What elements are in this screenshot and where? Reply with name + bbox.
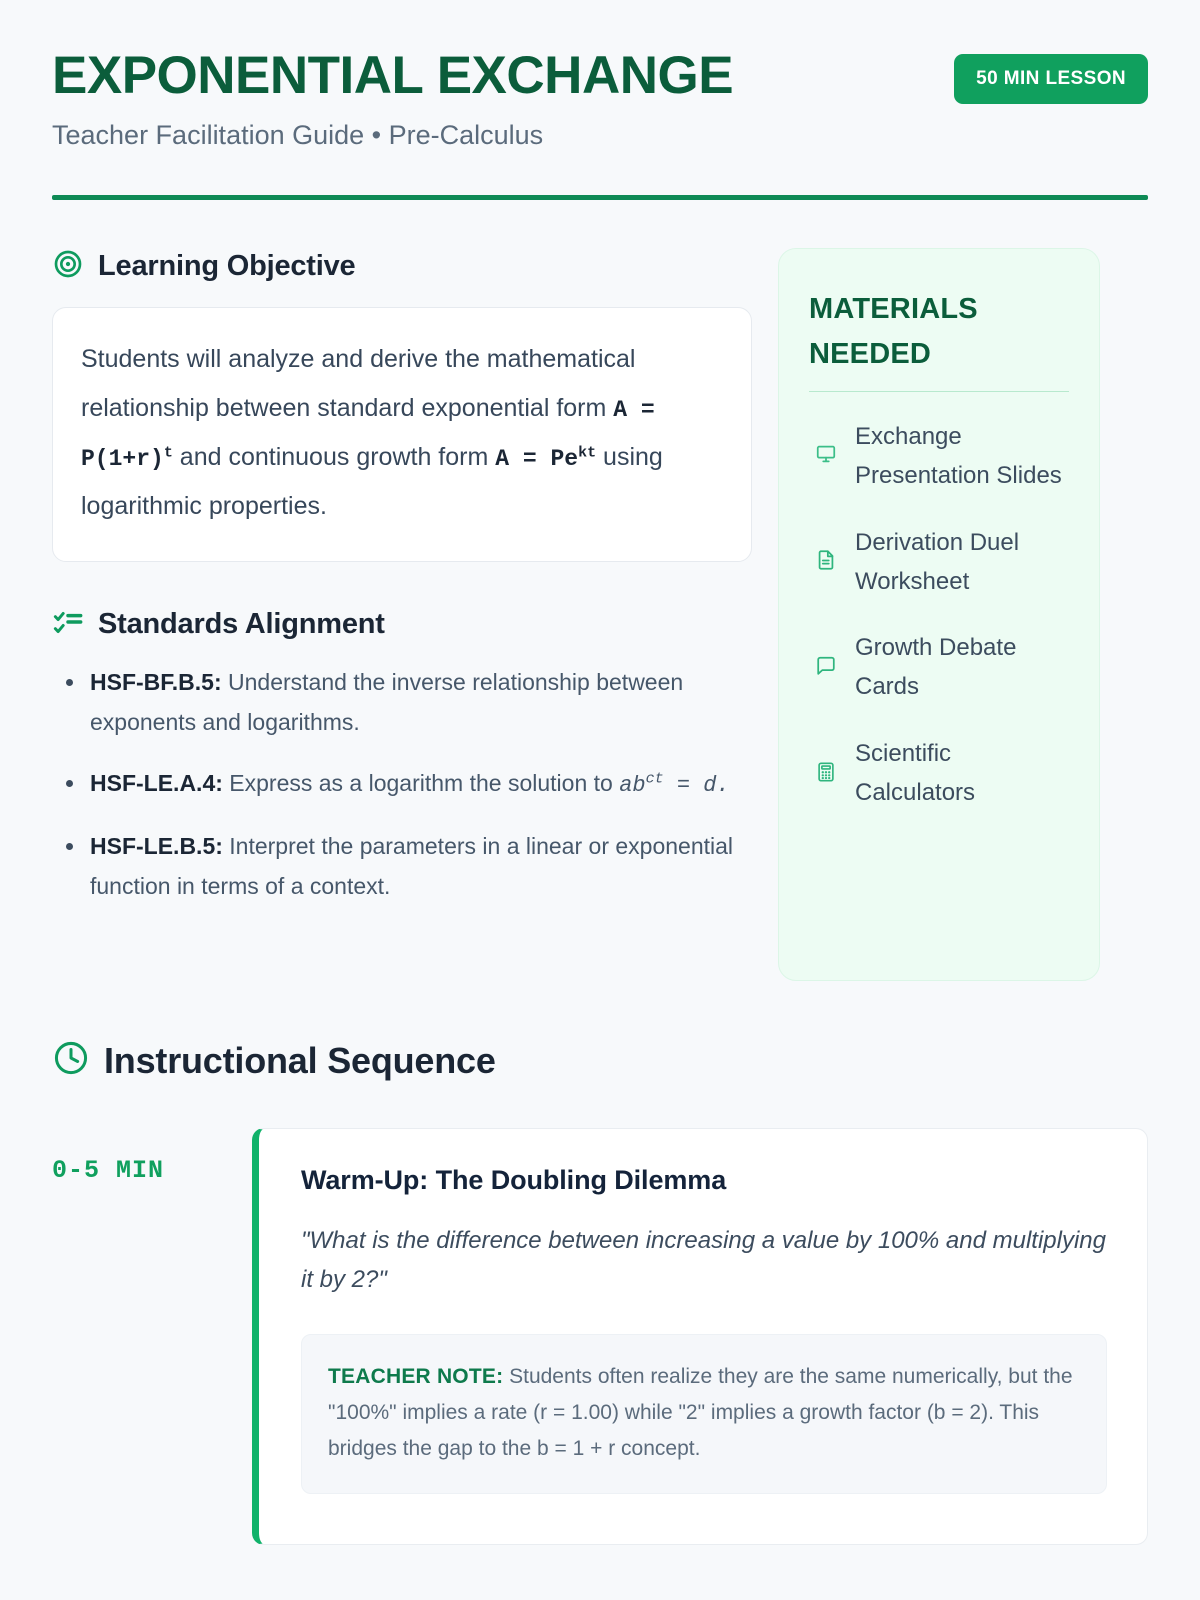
objective-formula-continuous: A = Pekt xyxy=(495,446,596,472)
standards-alignment-section: Standards Alignment HSF-BF.B.5: Understa… xyxy=(52,606,752,906)
standard-formula-base: ab xyxy=(619,773,645,798)
header-divider xyxy=(52,195,1148,200)
header-top-row: EXPONENTIAL EXCHANGE 50 MIN LESSON xyxy=(52,48,1148,104)
instructional-sequence-header: Instructional Sequence xyxy=(52,1039,1148,1082)
checklist-icon xyxy=(52,606,84,643)
list-item: HSF-BF.B.5: Understand the inverse relat… xyxy=(52,663,752,742)
material-label: Derivation Duel Worksheet xyxy=(855,524,1069,602)
lesson-guide-page: EXPONENTIAL EXCHANGE 50 MIN LESSON Teach… xyxy=(0,0,1200,1600)
standards-alignment-header: Standards Alignment xyxy=(52,606,752,643)
presentation-icon xyxy=(815,443,837,470)
standard-description: Express as a logarithm the solution to xyxy=(223,770,619,796)
material-label: Growth Debate Cards xyxy=(855,629,1069,707)
objective-formula-continuous-exponent: kt xyxy=(578,444,596,461)
page-header: EXPONENTIAL EXCHANGE 50 MIN LESSON Teach… xyxy=(52,0,1148,200)
standards-list: HSF-BF.B.5: Understand the inverse relat… xyxy=(52,663,752,906)
page-title: EXPONENTIAL EXCHANGE xyxy=(52,48,733,104)
instructional-sequence-section: Instructional Sequence 0-5 MIN Warm-Up: … xyxy=(52,1039,1148,1545)
list-item: Growth Debate Cards xyxy=(809,615,1069,721)
standard-code: HSF-LE.A.4: xyxy=(90,770,223,796)
clock-icon xyxy=(52,1039,90,1082)
list-item: Derivation Duel Worksheet xyxy=(809,510,1069,616)
list-item: Scientific Calculators xyxy=(809,721,1069,827)
materials-divider xyxy=(809,391,1069,392)
sequence-card-quote: "What is the difference between increasi… xyxy=(301,1222,1107,1300)
timeline-time-label: 0-5 MIN xyxy=(52,1128,252,1185)
learning-objective-text: Students will analyze and derive the mat… xyxy=(81,335,723,531)
material-label: Scientific Calculators xyxy=(855,735,1069,813)
standard-formula-tail: = d. xyxy=(664,773,730,798)
list-item: Exchange Presentation Slides xyxy=(809,404,1069,510)
learning-objective-card: Students will analyze and derive the mat… xyxy=(52,307,752,562)
standard-code: HSF-BF.B.5: xyxy=(90,669,222,695)
body-grid: Learning Objective Students will analyze… xyxy=(52,248,1148,981)
material-label: Exchange Presentation Slides xyxy=(855,418,1069,496)
standard-formula-exponent: ct xyxy=(646,771,664,788)
document-icon xyxy=(815,549,837,576)
list-item: HSF-LE.B.5: Interpret the parameters in … xyxy=(52,827,752,906)
instructional-sequence-title: Instructional Sequence xyxy=(104,1040,496,1082)
standards-alignment-title: Standards Alignment xyxy=(98,608,385,641)
sequence-card: Warm-Up: The Doubling Dilemma "What is t… xyxy=(252,1128,1148,1545)
target-icon xyxy=(52,248,84,285)
sequence-card-title: Warm-Up: The Doubling Dilemma xyxy=(301,1165,1107,1196)
lesson-duration-badge: 50 MIN LESSON xyxy=(954,54,1148,104)
calculator-icon xyxy=(815,761,837,788)
teacher-note-label: TEACHER NOTE: xyxy=(328,1365,503,1388)
page-subtitle: Teacher Facilitation Guide • Pre-Calculu… xyxy=(52,120,1148,151)
learning-objective-title: Learning Objective xyxy=(98,250,355,283)
objective-text-part-1: Students will analyze and derive the mat… xyxy=(81,345,635,422)
list-item: HSF-LE.A.4: Express as a logarithm the s… xyxy=(52,764,752,805)
materials-panel-title: MATERIALS NEEDED xyxy=(809,287,1069,377)
objective-formula-standard-exponent: t xyxy=(164,444,173,461)
learning-objective-header: Learning Objective xyxy=(52,248,752,285)
side-column: MATERIALS NEEDED Exchange Presentation S… xyxy=(778,248,1100,981)
materials-panel: MATERIALS NEEDED Exchange Presentation S… xyxy=(778,248,1100,981)
objective-formula-continuous-base: A = Pe xyxy=(495,446,578,472)
materials-list: Exchange Presentation Slides Derivation … xyxy=(809,404,1069,827)
timeline-block: 0-5 MIN Warm-Up: The Doubling Dilemma "W… xyxy=(52,1128,1148,1545)
teacher-note-box: TEACHER NOTE: Students often realize the… xyxy=(301,1334,1107,1494)
main-column: Learning Objective Students will analyze… xyxy=(52,248,752,906)
teacher-note-text: TEACHER NOTE: Students often realize the… xyxy=(328,1359,1080,1467)
objective-text-part-2: and continuous growth form xyxy=(173,443,495,471)
speech-bubble-icon xyxy=(815,655,837,682)
standard-formula: abct = d. xyxy=(619,773,729,798)
standard-code: HSF-LE.B.5: xyxy=(90,833,223,859)
